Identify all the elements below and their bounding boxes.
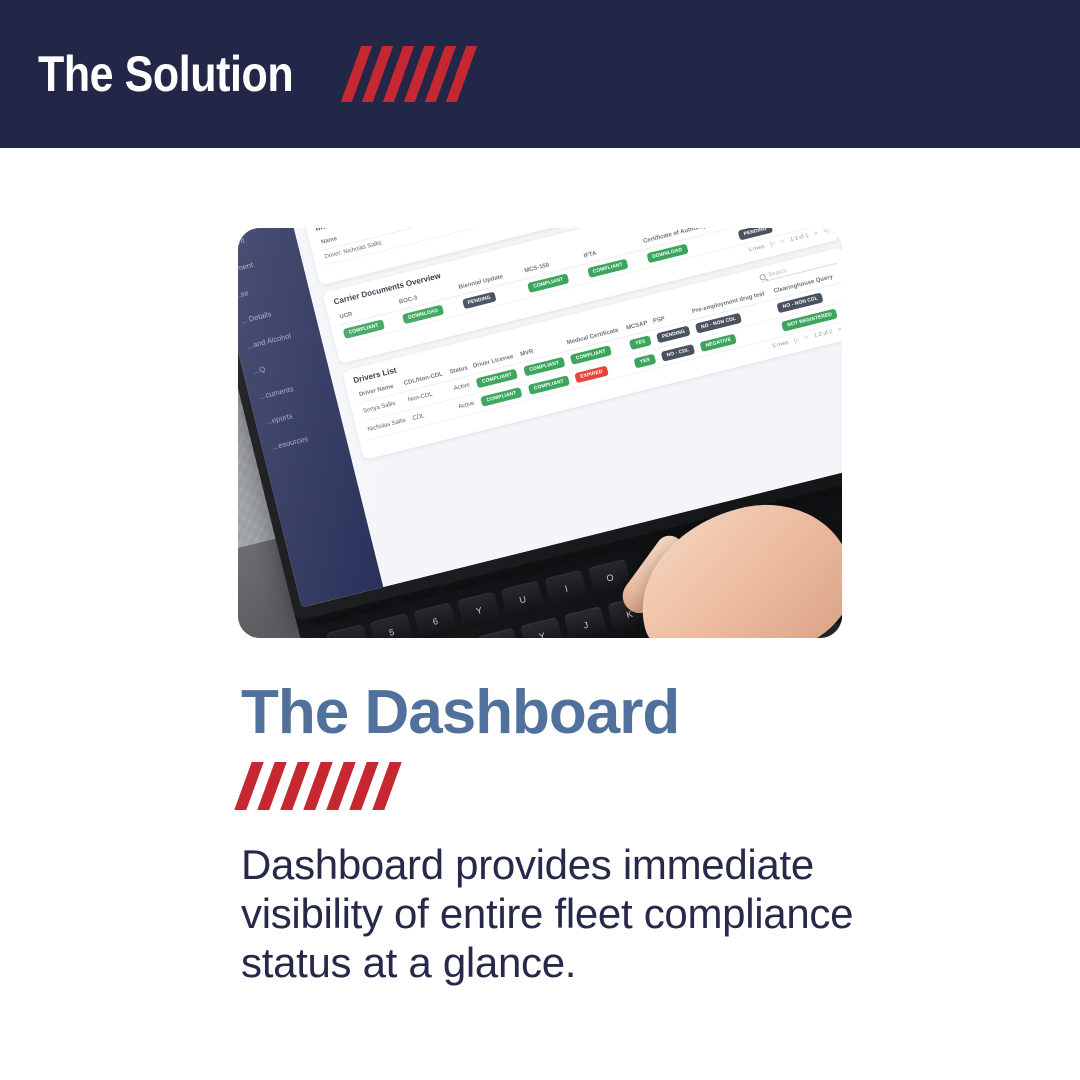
sidebar-item[interactable]: ...Q xyxy=(252,349,326,376)
prev-page-icon[interactable]: < xyxy=(804,335,809,342)
sidebar-item[interactable]: ...eports xyxy=(265,400,339,427)
page-range: 1-2 of 2 xyxy=(813,329,833,339)
slide-root: The Solution 8 9 0 - = xyxy=(0,0,1080,1080)
next-page-icon[interactable]: > xyxy=(837,326,842,333)
body-slash-decoration xyxy=(243,762,393,810)
key[interactable]: U xyxy=(501,581,545,619)
key[interactable]: Y xyxy=(457,591,501,629)
key[interactable]: 4 xyxy=(326,624,370,638)
header-title: The Solution xyxy=(38,45,293,103)
key[interactable]: I xyxy=(544,570,588,608)
page-range: 1-1 of 1 xyxy=(790,233,810,243)
status-badge[interactable]: YES xyxy=(629,335,651,350)
slash-mark xyxy=(372,762,401,810)
first-page-icon[interactable]: |< xyxy=(794,337,800,344)
sidebar-item[interactable]: ...se xyxy=(238,274,307,301)
key[interactable]: 5 xyxy=(370,613,414,638)
header-slash-decoration xyxy=(351,46,467,102)
section-title: The Dashboard xyxy=(241,677,679,748)
search-icon xyxy=(759,274,766,281)
key[interactable]: J xyxy=(564,606,608,638)
sidebar-item[interactable]: ...rment xyxy=(238,248,301,275)
key[interactable]: K xyxy=(607,595,651,633)
rows-per-page[interactable]: 5 rows xyxy=(748,244,765,254)
laptop-photo: 8 9 0 - = ⌫ 7 8 9 0 P [ ] xyxy=(238,228,842,638)
header-bar: The Solution xyxy=(0,0,1080,148)
key[interactable]: L xyxy=(651,584,695,622)
sidebar-item[interactable]: ...and Alcohol xyxy=(246,324,320,351)
key[interactable]: 6 xyxy=(413,602,457,638)
sidebar-item[interactable]: ...cuments xyxy=(259,375,333,402)
key[interactable]: Y xyxy=(520,617,564,638)
rows-per-page[interactable]: 5 rows xyxy=(772,340,789,350)
key[interactable]: O xyxy=(588,559,632,597)
status-badge[interactable]: YES xyxy=(634,353,656,368)
sidebar-item[interactable]: ... Details xyxy=(240,299,314,326)
key[interactable]: T xyxy=(476,628,520,638)
sidebar-item[interactable]: ...esources xyxy=(271,425,345,452)
search-placeholder: Search xyxy=(768,268,788,278)
body-paragraph: Dashboard provides immediate visibility … xyxy=(241,840,921,987)
last-page-icon[interactable]: >| xyxy=(823,228,829,235)
sidebar-item[interactable]: ...ment xyxy=(238,228,295,250)
first-page-icon[interactable]: |< xyxy=(770,241,776,248)
next-page-icon[interactable]: > xyxy=(813,230,818,237)
prev-page-icon[interactable]: < xyxy=(780,239,785,246)
